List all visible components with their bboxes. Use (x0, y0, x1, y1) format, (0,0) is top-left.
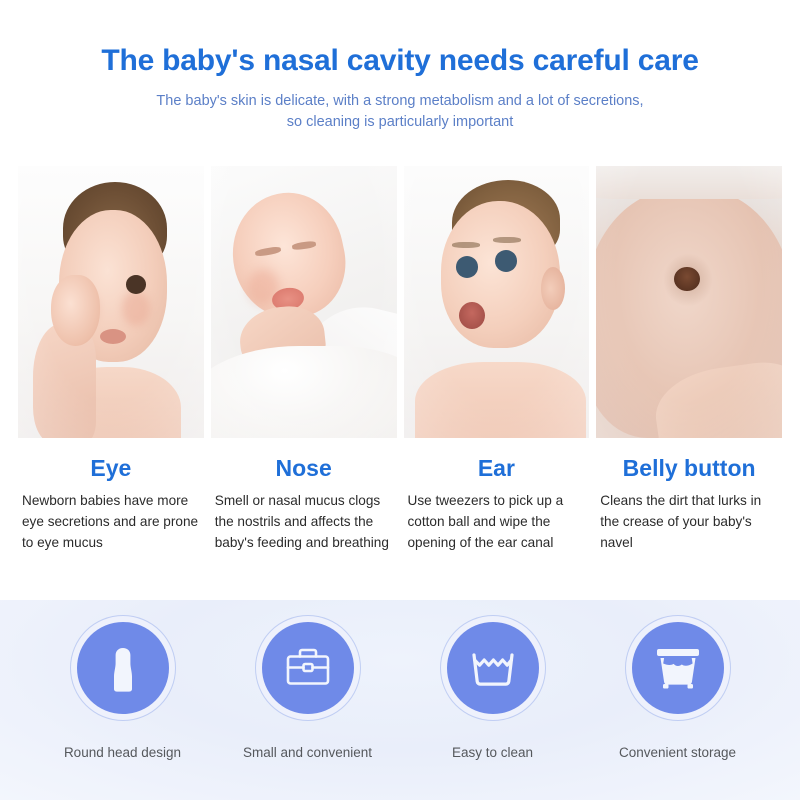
subtitle-line-2: so cleaning is particularly important (100, 112, 700, 133)
feature-caption: Round head design (64, 744, 181, 762)
feature-caption: Easy to clean (452, 744, 533, 762)
feature-small-and-convenient: Small and convenient (215, 622, 400, 800)
header-section: The baby's nasal cavity needs careful ca… (0, 0, 800, 133)
baby-brow-left (452, 242, 480, 248)
photo-nose (211, 166, 397, 438)
baby-eye (126, 275, 146, 294)
photo-strip (0, 166, 800, 438)
wash-basin-icon (466, 641, 520, 695)
photo-eye (18, 166, 204, 438)
feature-icon-circle (632, 622, 724, 714)
feature-list: Round head design Small and convenient (0, 600, 800, 800)
feature-icon-circle (447, 622, 539, 714)
page-title: The baby's nasal cavity needs careful ca… (0, 44, 800, 79)
care-area-belly-button: Belly button Cleans the dirt that lurks … (596, 456, 782, 553)
feature-caption: Convenient storage (619, 744, 736, 762)
feature-icon-circle (262, 622, 354, 714)
baby-eye-right (495, 250, 517, 272)
white-blanket (211, 346, 397, 438)
care-area-title: Belly button (600, 456, 778, 481)
care-area-columns: Eye Newborn babies have more eye secreti… (0, 456, 800, 553)
feature-caption: Small and convenient (243, 744, 372, 762)
feature-band: Round head design Small and convenient (0, 600, 800, 800)
product-infographic-page: The baby's nasal cavity needs careful ca… (0, 0, 800, 800)
care-area-eye: Eye Newborn babies have more eye secreti… (18, 456, 204, 553)
baby-hand (51, 275, 99, 346)
baby-brow-right (493, 237, 521, 243)
care-area-nose: Nose Smell or nasal mucus clogs the nost… (211, 456, 397, 553)
round-head-tip-icon (96, 641, 150, 695)
care-area-ear: Ear Use tweezers to pick up a cotton bal… (404, 456, 590, 553)
baby-eye-left (456, 256, 478, 278)
care-area-description: Smell or nasal mucus clogs the nostrils … (215, 491, 393, 553)
care-area-title: Eye (22, 456, 200, 481)
care-area-description: Use tweezers to pick up a cotton ball an… (408, 491, 586, 553)
briefcase-icon (281, 641, 335, 695)
baby-cheek-right (122, 291, 150, 326)
photo-ear (404, 166, 590, 438)
bed-sheet (596, 166, 782, 199)
baby-mouth (100, 329, 126, 344)
feature-convenient-storage: Convenient storage (585, 622, 770, 800)
photo-belly-button (596, 166, 782, 438)
baby-body (415, 362, 586, 438)
page-subtitle: The baby's skin is delicate, with a stro… (100, 91, 700, 133)
feature-easy-to-clean: Easy to clean (400, 622, 585, 800)
baby-ear (541, 267, 565, 311)
feature-icon-circle (77, 622, 169, 714)
storage-bin-icon (651, 641, 705, 695)
care-area-description: Newborn babies have more eye secretions … (22, 491, 200, 553)
care-area-title: Nose (215, 456, 393, 481)
subtitle-line-1: The baby's skin is delicate, with a stro… (100, 91, 700, 112)
feature-round-head-design: Round head design (30, 622, 215, 800)
care-area-description: Cleans the dirt that lurks in the crease… (600, 491, 778, 553)
care-area-title: Ear (408, 456, 586, 481)
